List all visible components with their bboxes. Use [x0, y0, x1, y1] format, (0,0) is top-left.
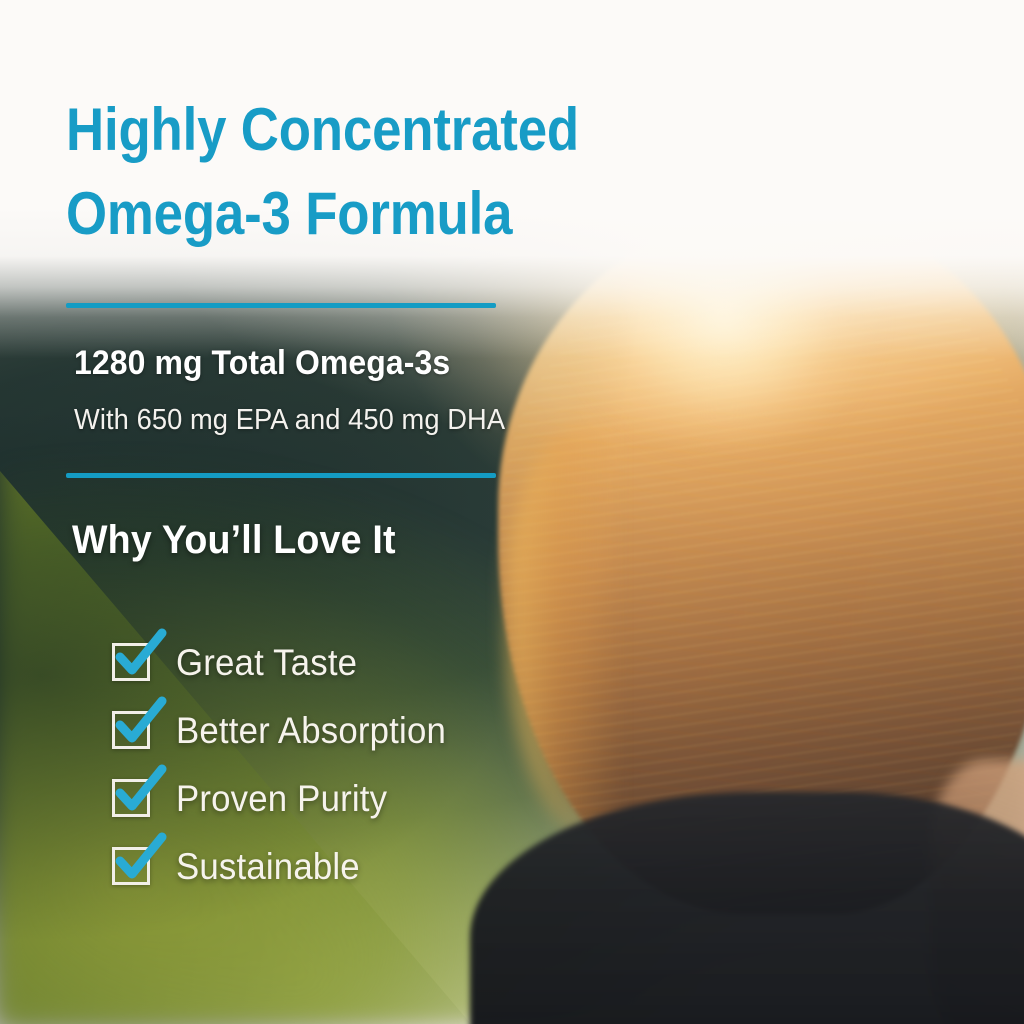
divider-top	[66, 303, 496, 308]
checklist-item-label: Better Absorption	[176, 712, 446, 749]
checklist-item-label: Great Taste	[176, 644, 357, 681]
benefits-title: Why You’ll Love It	[72, 518, 598, 562]
headline: Highly Concentrated Omega-3 Formula	[66, 88, 629, 256]
benefits-checklist: Great Taste Better Absorption Proven Pur…	[112, 628, 632, 900]
divider-bottom	[66, 473, 496, 478]
product-infographic: Highly Concentrated Omega-3 Formula 1280…	[0, 0, 1024, 1024]
checklist-item: Better Absorption	[112, 696, 632, 764]
checklist-item-label: Sustainable	[176, 848, 360, 885]
checklist-item-label: Proven Purity	[176, 780, 387, 817]
dosage-primary: 1280 mg Total Omega-3s	[74, 345, 600, 382]
checklist-item: Proven Purity	[112, 764, 632, 832]
checked-checkbox-icon	[112, 643, 150, 681]
checked-checkbox-icon	[112, 847, 150, 885]
checklist-item: Great Taste	[112, 628, 632, 696]
dosage-secondary: With 650 mg EPA and 450 mg DHA	[74, 405, 600, 437]
checked-checkbox-icon	[112, 711, 150, 749]
checked-checkbox-icon	[112, 779, 150, 817]
checklist-item: Sustainable	[112, 832, 632, 900]
